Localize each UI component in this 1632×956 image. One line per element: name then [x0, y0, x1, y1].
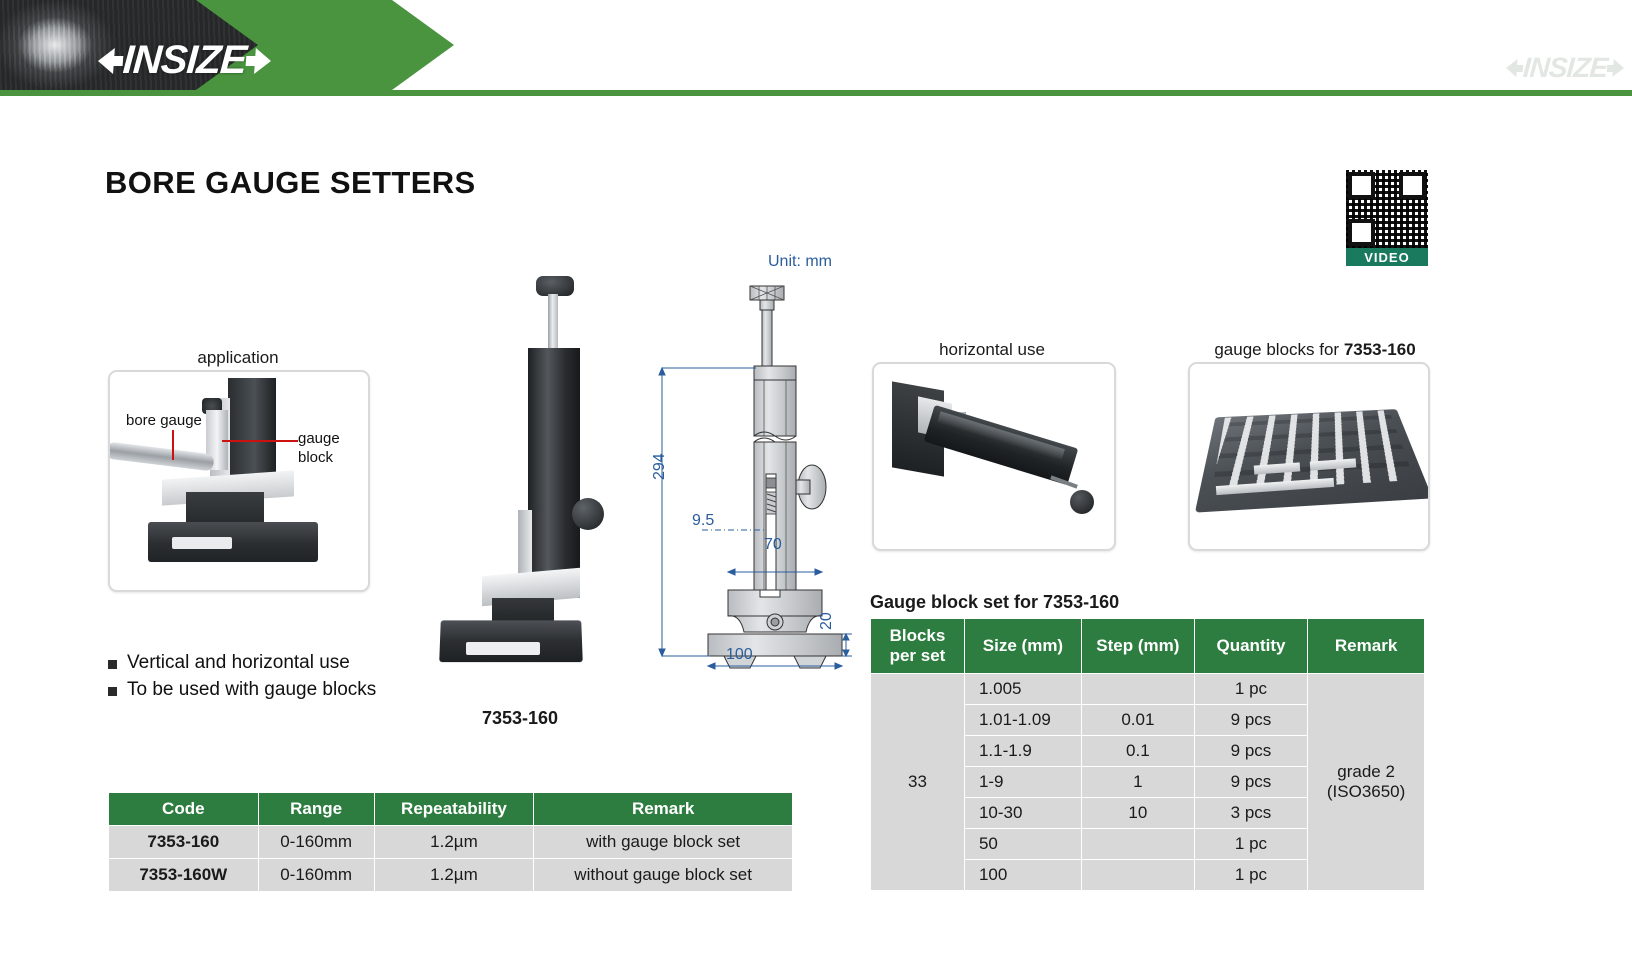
dim-100: 100: [726, 646, 753, 664]
th-repeatability: Repeatability: [374, 793, 534, 826]
table-header-row: Blocks per set Size (mm) Step (mm) Quant…: [871, 619, 1425, 674]
cell-step: 10: [1081, 798, 1194, 829]
dim-294: 294: [651, 453, 669, 480]
logo-wordmark: INSIZE: [121, 38, 247, 83]
logo-left-bar: [111, 56, 124, 66]
dim-9-5: 9.5: [692, 512, 714, 530]
feature-label: Vertical and horizontal use: [127, 652, 350, 674]
video-badge[interactable]: VIDEO: [1346, 248, 1428, 266]
gauge-blocks-caption-prefix: gauge blocks for: [1214, 340, 1343, 359]
cell-range: 0-160mm: [258, 826, 374, 859]
gauge-blocks-caption-code: 7353-160: [1344, 340, 1416, 359]
leader-gauge-block: [222, 440, 298, 442]
cell-quantity: 9 pcs: [1194, 736, 1307, 767]
cell-remark: with gauge block set: [534, 826, 793, 859]
feature-label: To be used with gauge blocks: [127, 679, 376, 701]
table-row: 331.0051 pcgrade 2(ISO3650): [871, 674, 1425, 705]
product-base-label-plate: [466, 642, 540, 655]
insize-logo-watermark: INSIZE: [1505, 52, 1625, 84]
leader-bore-gauge: [172, 430, 174, 460]
th-blocks-per-set: Blocks per set: [871, 619, 965, 674]
table-row: 7353-1600-160mm1.2µmwith gauge block set: [109, 826, 793, 859]
application-caption: application: [108, 348, 368, 368]
cell-quantity: 9 pcs: [1194, 767, 1307, 798]
cell-size: 1.01-1.09: [964, 705, 1081, 736]
th-blocks-per-set-line1: Blocks: [890, 626, 946, 645]
specification-table: Code Range Repeatability Remark 7353-160…: [108, 792, 793, 892]
cell-quantity: 9 pcs: [1194, 705, 1307, 736]
feature-item: Vertical and horizontal use: [108, 652, 376, 674]
product-code-caption: 7353-160: [430, 708, 610, 729]
technical-drawing: [640, 250, 860, 670]
th-size: Size (mm): [964, 619, 1081, 674]
th-remark: Remark: [1308, 619, 1425, 674]
th-code: Code: [109, 793, 259, 826]
product-spindle: [548, 294, 558, 354]
cell-repeatability: 1.2µm: [374, 826, 534, 859]
cell-step: 0.01: [1081, 705, 1194, 736]
gauge-blocks-photo: [1188, 362, 1430, 551]
th-range: Range: [258, 793, 374, 826]
cell-remark-line2: (ISO3650): [1318, 782, 1414, 802]
video-qr-block[interactable]: VIDEO: [1346, 170, 1428, 268]
app-base-label-plate: [172, 537, 232, 549]
product-side-knob: [572, 498, 604, 530]
watermark-left-bar: [1515, 65, 1523, 72]
gauge-block-table-title: Gauge block set for 7353-160: [870, 592, 1119, 613]
technical-drawing-svg: [640, 250, 860, 670]
product-column: [528, 348, 580, 598]
cell-blocks-per-set: 33: [871, 674, 965, 891]
cell-remark-line1: grade 2: [1318, 762, 1414, 782]
feature-item: To be used with gauge blocks: [108, 679, 376, 701]
application-photo: bore gauge gauge block: [108, 370, 370, 592]
cell-step: [1081, 829, 1194, 860]
gauge-block-table-body: 331.0051 pcgrade 2(ISO3650)1.01-1.090.01…: [871, 674, 1425, 891]
cell-step: [1081, 674, 1194, 705]
product-photo: [430, 270, 610, 690]
cell-code: 7353-160: [109, 826, 259, 859]
specification-table-body: 7353-1600-160mm1.2µmwith gauge block set…: [109, 826, 793, 892]
qr-code-icon[interactable]: [1346, 170, 1428, 248]
dim-70: 70: [764, 536, 782, 554]
horizontal-knob: [1070, 490, 1094, 514]
cell-quantity: 3 pcs: [1194, 798, 1307, 829]
cell-step: [1081, 860, 1194, 891]
header-white-chevron: [330, 0, 1632, 90]
cell-size: 1.005: [964, 674, 1081, 705]
cell-repeatability: 1.2µm: [374, 859, 534, 892]
watermark-wordmark: INSIZE: [1522, 52, 1608, 84]
cell-size: 1.1-1.9: [964, 736, 1081, 767]
cell-step: 1: [1081, 767, 1194, 798]
dim-20: 20: [818, 612, 836, 630]
label-gauge-block-line1: gauge: [298, 430, 340, 447]
table-header-row: Code Range Repeatability Remark: [109, 793, 793, 826]
cell-remark: without gauge block set: [534, 859, 793, 892]
app-bore-gauge-rod: [108, 441, 215, 471]
horizontal-use-photo: [872, 362, 1116, 551]
cell-size: 50: [964, 829, 1081, 860]
cell-code: 7353-160W: [109, 859, 259, 892]
table-row: 7353-160W0-160mm1.2µmwithout gauge block…: [109, 859, 793, 892]
watermark-right-arrow-icon: [1612, 59, 1624, 77]
gauge-blocks-caption: gauge blocks for 7353-160: [1190, 340, 1440, 360]
label-gauge-block-line2: block: [298, 449, 333, 466]
cell-remark: grade 2(ISO3650): [1308, 674, 1425, 891]
label-bore-gauge: bore gauge: [126, 412, 202, 429]
features-list: Vertical and horizontal use To be used w…: [108, 652, 376, 706]
qr-finder-bottom-left: [1348, 219, 1375, 246]
cell-range: 0-160mm: [258, 859, 374, 892]
bullet-square-icon: [108, 687, 117, 696]
page-title: BORE GAUGE SETTERS: [105, 165, 476, 201]
cell-size: 10-30: [964, 798, 1081, 829]
logo-right-arrow-icon: [254, 48, 272, 74]
cell-quantity: 1 pc: [1194, 829, 1307, 860]
label-gauge-block: gauge block: [298, 430, 340, 468]
product-top-knob: [536, 276, 574, 296]
th-blocks-per-set-line2: per set: [890, 646, 946, 665]
gauge-block-table: Blocks per set Size (mm) Step (mm) Quant…: [870, 618, 1425, 891]
th-step: Step (mm): [1081, 619, 1194, 674]
horizontal-use-caption: horizontal use: [872, 340, 1112, 360]
cell-step: 0.1: [1081, 736, 1194, 767]
header-green-rule: [0, 90, 1632, 96]
cell-quantity: 1 pc: [1194, 860, 1307, 891]
cell-quantity: 1 pc: [1194, 674, 1307, 705]
th-remark: Remark: [534, 793, 793, 826]
bullet-square-icon: [108, 660, 117, 669]
th-quantity: Quantity: [1194, 619, 1307, 674]
cell-size: 1-9: [964, 767, 1081, 798]
cell-size: 100: [964, 860, 1081, 891]
page-header: INSIZE INSIZE: [0, 0, 1632, 96]
insize-logo: INSIZE: [96, 38, 272, 83]
